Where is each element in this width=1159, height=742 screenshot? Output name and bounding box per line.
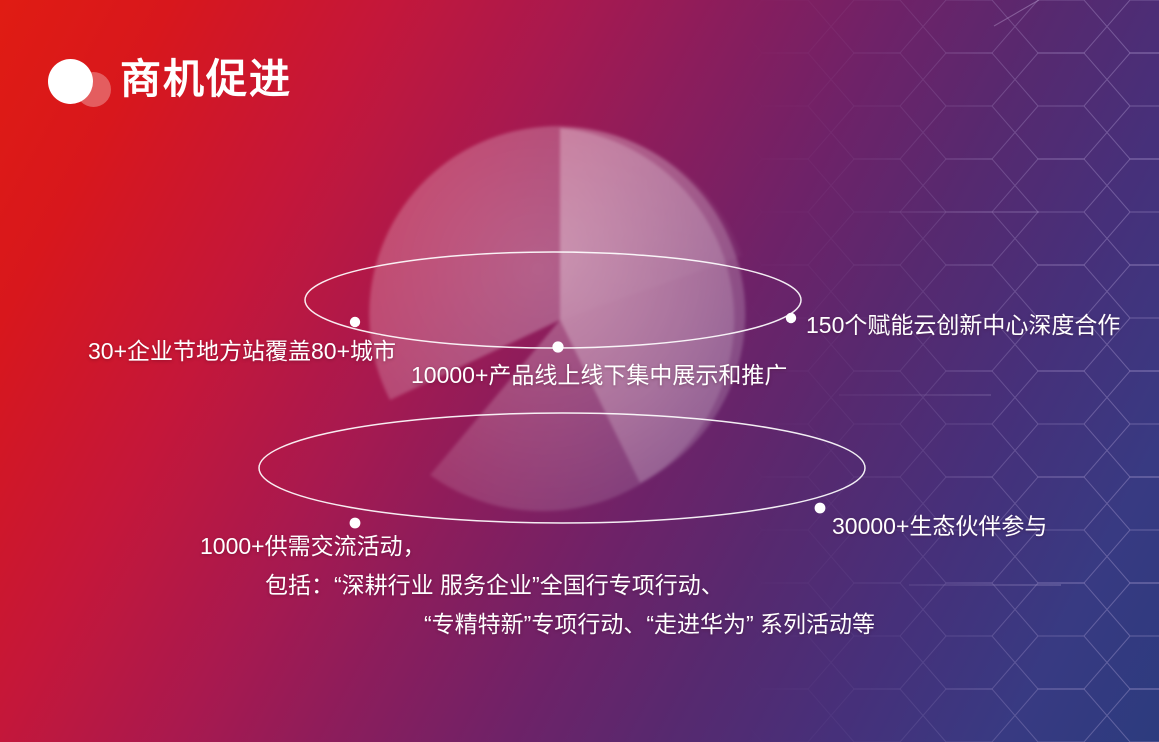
callout-label-innovation-centers: 150个赋能云创新中心深度合作	[806, 312, 1120, 340]
page-title: 商机促进	[120, 59, 292, 100]
callout-label-activities-detail-1: 包括：“深耕行业 服务企业”全国行专项行动、	[265, 572, 724, 600]
lower-orbit-ellipse	[259, 413, 865, 523]
callout-label-activities: 1000+供需交流活动，	[200, 533, 426, 561]
slide-header: 商机促进	[46, 50, 292, 108]
orbit-marker-b	[552, 341, 563, 352]
orbit-marker-e	[350, 518, 361, 529]
orbit-marker-d	[815, 503, 826, 514]
callout-label-products: 10000+产品线上线下集中展示和推广	[411, 362, 787, 390]
callout-label-cities: 30+企业节地方站覆盖80+城市	[88, 338, 396, 366]
callout-label-ecosystem-partners: 30000+生态伙伴参与	[832, 513, 1047, 541]
two-circles-logo-icon	[46, 53, 114, 105]
logo-circle-front	[48, 59, 93, 104]
upper-orbit-ellipse	[305, 252, 801, 348]
callout-label-activities-detail-2: “专精特新”专项行动、“走进华为” 系列活动等	[424, 611, 875, 639]
slide-canvas: 商机促进 30+企业节地方站覆盖80+城市 10000+产品线上线下集中展示和推…	[0, 0, 1159, 742]
orbit-marker-a	[350, 317, 360, 327]
orbit-marker-c	[786, 313, 796, 323]
